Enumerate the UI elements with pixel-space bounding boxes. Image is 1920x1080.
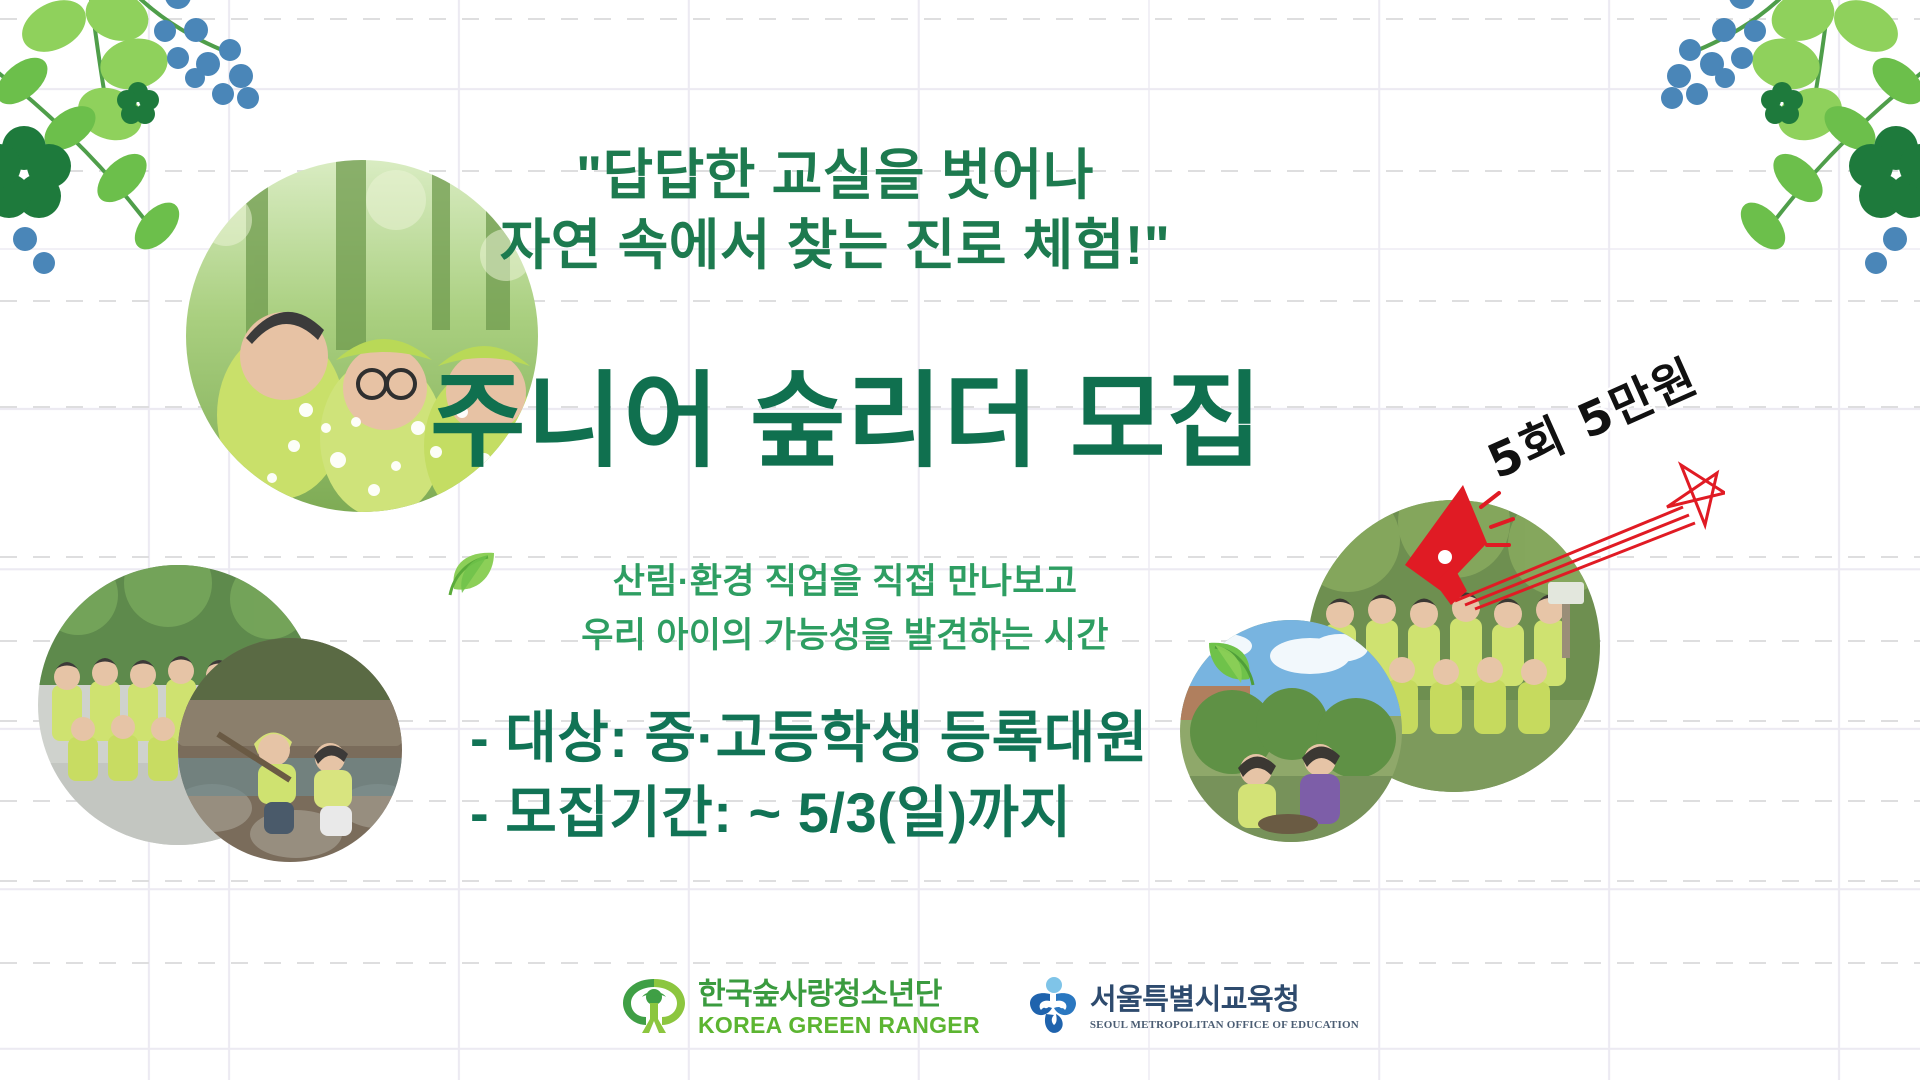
logo-seoul-education: 서울특별시교육청 SEOUL METROPOLITAN OFFICE OF ED… [1024,976,1359,1041]
poster-subtitle: 산림·환경 직업을 직접 만나보고 우리 아이의 가능성을 발견하는 시간 [430,555,1260,664]
poster-quote: "답답한 교실을 벗어나 자연 속에서 찾는 진로 체험!" [430,140,1240,281]
subtitle-text-2: 우리 아이의 가능성을 발견하는 시간 [581,616,1109,655]
quote-line-1: "답답한 교실을 벗어나 [430,140,1240,210]
page-title: 주니어 숲리더 모집 [430,370,1260,474]
quote-line-2: 자연 속에서 찾는 진로 체험!" [430,210,1240,280]
logo-seoul-education-text: 서울특별시교육청 SEOUL METROPOLITAN OFFICE OF ED… [1090,986,1359,1031]
poster-canvas: "답답한 교실을 벗어나 자연 속에서 찾는 진로 체험!" 주니어 숲리더 모… [0,0,1920,1080]
subtitle-line-1: 산림·환경 직업을 직접 만나보고 [430,555,1260,609]
foliage-branch-icon [1608,0,1920,276]
logo-korean-name: 서울특별시교육청 [1090,986,1359,1015]
logo-korean-name: 한국숲사랑청소년단 [698,980,980,1010]
logo-row: 한국숲사랑청소년단 KOREA GREEN RANGER 서울특별시교육청 SE… [620,975,1359,1042]
leaf-icon [1203,639,1255,687]
seoul-education-mark-icon [1024,976,1080,1041]
detail-application-period: - 모집기간: ~ 5/3(일)까지 [470,775,1230,850]
logo-korea-green-ranger: 한국숲사랑청소년단 KOREA GREEN RANGER [620,975,980,1042]
detail-target-audience: - 대상: 중·고등학생 등록대원 [470,700,1230,775]
star-icon [1667,465,1725,525]
korea-green-ranger-mark-icon [620,975,688,1042]
logo-korea-green-ranger-text: 한국숲사랑청소년단 KOREA GREEN RANGER [698,980,980,1037]
logo-english-name: SEOUL METROPOLITAN OFFICE OF EDUCATION [1090,1020,1359,1031]
poster-details: - 대상: 중·고등학생 등록대원 - 모집기간: ~ 5/3(일)까지 [470,700,1230,850]
megaphone-icon [1405,485,1487,605]
price-badge: 5회 5만원 [1395,415,1725,615]
subtitle-text-1: 산림·환경 직업을 직접 만나보고 [613,562,1078,601]
logo-english-name: KOREA GREEN RANGER [698,1014,980,1037]
subtitle-line-2: 우리 아이의 가능성을 발견하는 시간 [430,609,1260,663]
photo-stream-exploration [178,638,402,862]
leaf-icon [448,549,500,597]
